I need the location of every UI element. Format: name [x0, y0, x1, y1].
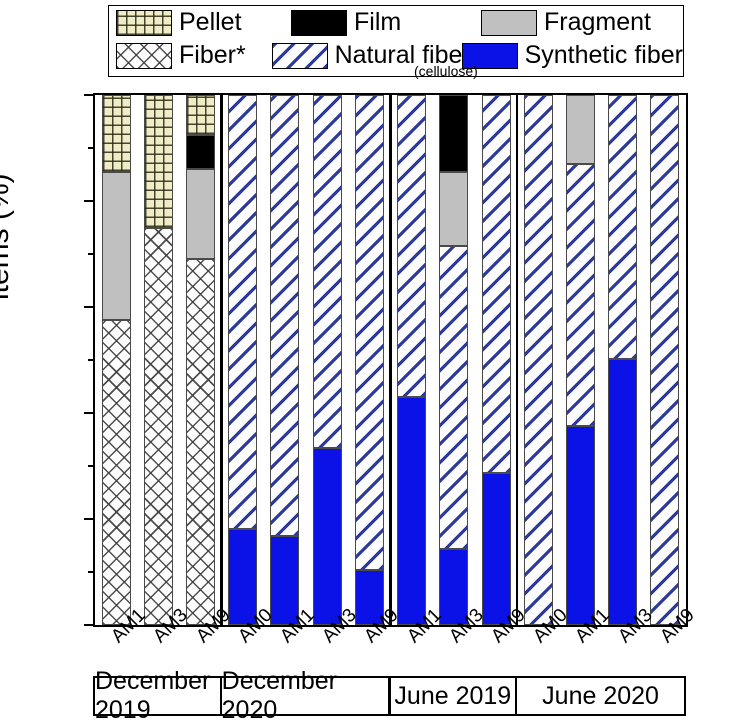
pellet-swatch-icon — [116, 10, 172, 36]
legend-label-pellet: Pellet — [179, 10, 242, 35]
legend-item-fiber: Fiber* — [116, 43, 272, 69]
bar-segment-fragment — [102, 172, 131, 320]
y-tick-major — [84, 412, 95, 414]
group-label-december-2019: December 2019 — [93, 676, 222, 716]
bar-segment-natural — [482, 95, 511, 473]
stacked-bar[interactable] — [144, 95, 173, 625]
legend-label-film: Film — [354, 10, 401, 35]
y-axis-title: items (%) — [0, 173, 16, 300]
bar-segment-natural — [439, 246, 468, 549]
group-label-june-2019: June 2019 — [389, 676, 518, 716]
y-tick-minor — [88, 147, 95, 149]
legend-label-synthetic-fiber: Synthetic fiber — [525, 43, 683, 68]
stacked-bar[interactable] — [439, 95, 468, 625]
bar-segment-fiber — [144, 228, 173, 626]
bar-segment-synthetic — [313, 448, 342, 625]
group-label-december-2020: December 2020 — [220, 676, 391, 716]
bar-segment-film — [439, 95, 468, 172]
y-tick-major — [84, 518, 95, 520]
bar-segment-natural — [524, 95, 553, 625]
y-tick-major — [84, 306, 95, 308]
bar-segment-natural — [313, 95, 342, 448]
bar-segment-synthetic — [482, 473, 511, 625]
stacked-bar[interactable] — [270, 95, 299, 625]
stacked-bar[interactable] — [313, 95, 342, 625]
bar-segment-fiber — [102, 320, 131, 625]
stacked-bar[interactable] — [650, 95, 679, 625]
plot-area: 020406080100 — [93, 93, 688, 627]
stacked-bar[interactable] — [186, 95, 215, 625]
stacked-bar[interactable] — [482, 95, 511, 625]
y-tick-minor — [88, 465, 95, 467]
bar-segment-fragment — [186, 169, 215, 259]
stacked-bar[interactable] — [397, 95, 426, 625]
bar-segment-pellet — [186, 95, 215, 135]
bar-segment-film — [186, 135, 215, 169]
natural-fiber-swatch-icon — [272, 43, 328, 69]
legend-label-fiber: Fiber* — [179, 43, 246, 68]
bar-segment-synthetic — [397, 397, 426, 625]
bar-segment-fiber — [186, 259, 215, 625]
bar-segment-fragment — [566, 95, 595, 164]
y-tick-minor — [88, 571, 95, 573]
bar-segment-natural — [270, 95, 299, 536]
film-swatch-icon — [291, 10, 347, 36]
legend-row-top: Pellet Film Fragment — [109, 6, 683, 39]
bar-segment-pellet — [144, 95, 173, 228]
y-tick-major — [84, 200, 95, 202]
legend-label-fragment: Fragment — [544, 10, 651, 35]
fiber-swatch-icon — [116, 43, 172, 69]
legend-row-bottom: Fiber* Natural fiber Synthetic fiber — [109, 39, 683, 72]
fragment-swatch-icon — [481, 10, 537, 36]
group-divider — [389, 95, 391, 625]
bar-segment-natural — [228, 95, 257, 529]
y-tick-major — [84, 624, 95, 626]
stacked-bar[interactable] — [355, 95, 384, 625]
chart-legend: Pellet Film Fragment Fiber* Natural fibe… — [108, 5, 684, 77]
stacked-bar[interactable] — [228, 95, 257, 625]
y-tick-minor — [88, 253, 95, 255]
bar-segment-natural — [397, 95, 426, 397]
legend-item-film: Film — [291, 10, 481, 36]
y-tick-major — [84, 94, 95, 96]
bar-segment-fragment — [439, 172, 468, 246]
legend-item-synthetic-fiber: Synthetic fiber — [462, 43, 683, 69]
group-divider — [516, 95, 518, 625]
bar-segment-natural — [650, 95, 679, 625]
bar-segment-synthetic — [228, 529, 257, 625]
stacked-bar[interactable] — [524, 95, 553, 625]
stacked-bar[interactable] — [102, 95, 131, 625]
bar-segment-synthetic — [608, 359, 637, 625]
legend-sub-note: (cellulose) — [414, 64, 478, 78]
legend-item-fragment: Fragment — [481, 10, 651, 36]
bar-segment-natural — [608, 95, 637, 359]
legend-item-pellet: Pellet — [116, 10, 291, 36]
group-divider — [220, 95, 222, 625]
stacked-bar[interactable] — [566, 95, 595, 625]
bar-segment-natural — [566, 164, 595, 426]
stacked-bar[interactable] — [608, 95, 637, 625]
y-tick-minor — [88, 359, 95, 361]
bar-segment-pellet — [102, 95, 131, 172]
bar-segment-synthetic — [566, 426, 595, 625]
group-label-june-2020: June 2020 — [515, 676, 686, 716]
bar-segment-natural — [355, 95, 384, 570]
chart-figure: Pellet Film Fragment Fiber* Natural fibe… — [0, 0, 750, 724]
